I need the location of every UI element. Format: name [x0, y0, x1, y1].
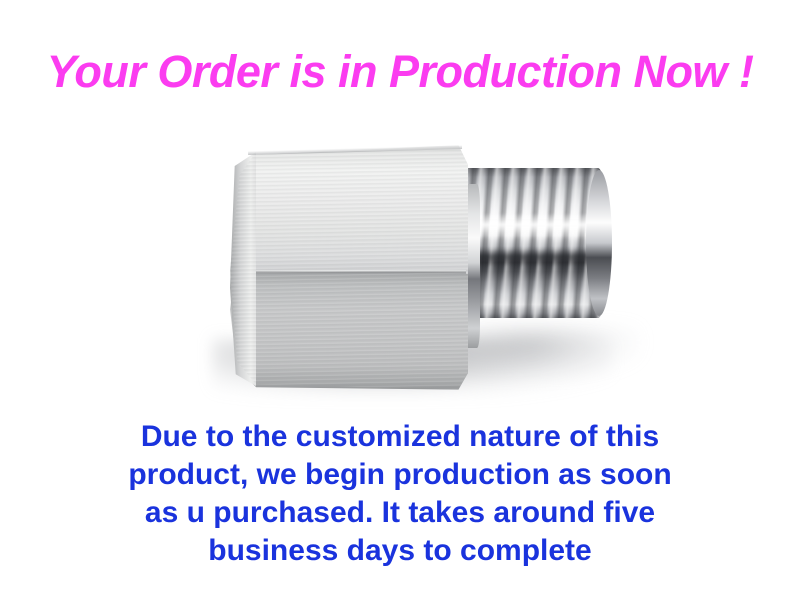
page-title: Your Order is in Production Now !: [0, 48, 800, 95]
hex-brushed-texture: [230, 140, 468, 392]
product-photo: [150, 120, 670, 410]
notice-line-4: business days to complete: [0, 532, 800, 570]
thread-end-cap: [586, 170, 612, 316]
production-notice: Due to the customized nature of this pro…: [0, 418, 800, 570]
notice-line-3: as u purchased. It takes around five: [0, 494, 800, 532]
notice-line-2: product, we begin production as soon: [0, 456, 800, 494]
promo-graphic: Your Order is in Production Now ! Due: [0, 0, 800, 600]
hex-body: [230, 140, 480, 398]
notice-line-1: Due to the customized nature of this: [0, 418, 800, 456]
